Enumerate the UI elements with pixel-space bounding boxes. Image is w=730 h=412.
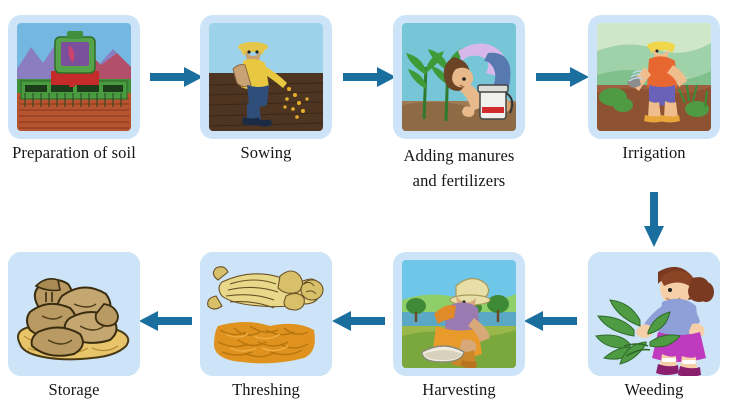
arrow-weeding-to-harvesting: [523, 310, 577, 332]
farmer-harvesting-crop-icon: [402, 260, 516, 368]
tractor-plough-field-icon: [17, 23, 131, 131]
step-card[interactable]: [588, 252, 720, 376]
step-label: Storage: [0, 380, 194, 400]
step-label: Irrigation: [534, 143, 730, 163]
step-card[interactable]: [8, 252, 140, 376]
step-card[interactable]: [588, 15, 720, 139]
step-card[interactable]: [8, 15, 140, 139]
farmer-watering-crops-icon: [597, 23, 711, 131]
wheat-sheaf-and-grain-icon: [200, 252, 332, 376]
step-card[interactable]: [200, 252, 332, 376]
farmer-scattering-seeds-icon: [209, 23, 323, 131]
arrow-manures-to-irrigation: [536, 66, 590, 88]
arrow-threshing-to-storage: [138, 310, 192, 332]
step-card[interactable]: [200, 15, 332, 139]
arrow-soil-to-sowing: [150, 66, 204, 88]
agricultural-practices-flowchart: Preparation of soil: [0, 0, 730, 412]
step-card[interactable]: [393, 15, 525, 139]
step-card[interactable]: [393, 252, 525, 376]
farmer-applying-fertilizer-icon: [402, 23, 516, 131]
arrow-sowing-to-manures: [343, 66, 397, 88]
arrow-harvesting-to-threshing: [331, 310, 385, 332]
arrow-irrigation-to-weeding: [643, 192, 665, 248]
grain-sacks-pile-icon: [8, 252, 140, 376]
girl-pulling-weeds-icon: [588, 252, 720, 376]
